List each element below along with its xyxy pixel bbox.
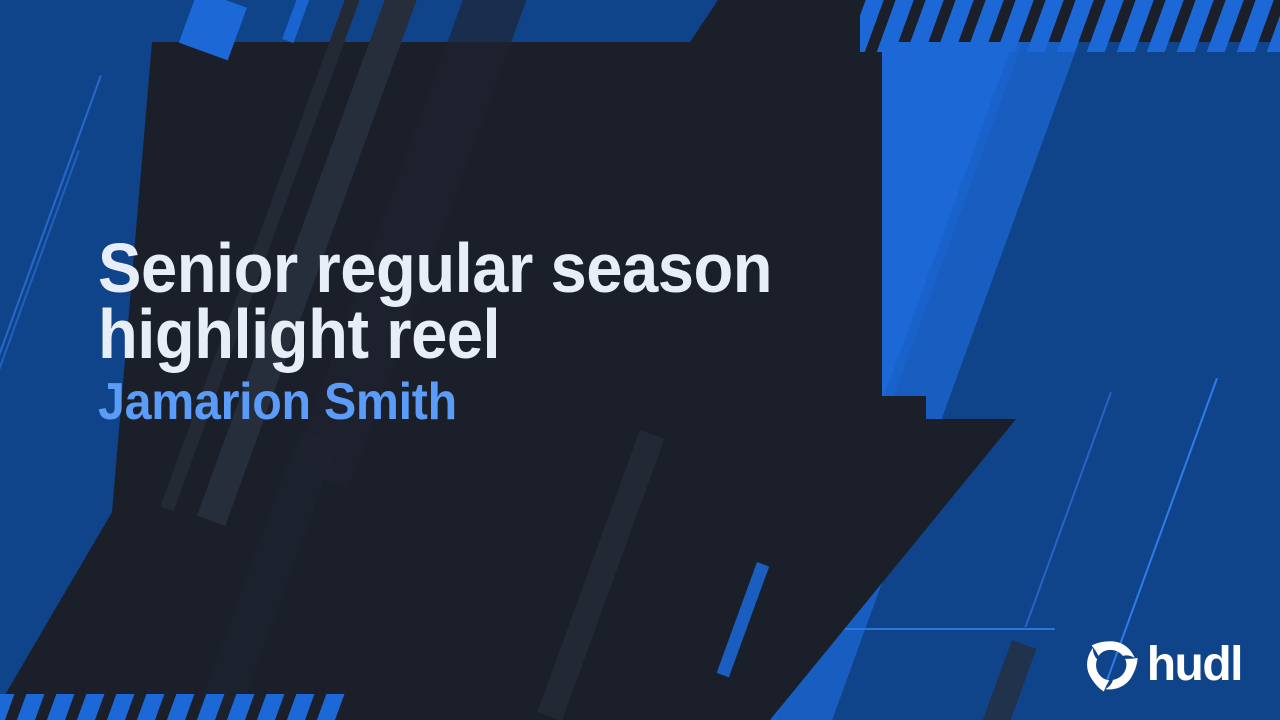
hudl-logo: hudl [1084, 638, 1242, 692]
title-block: Senior regular season highlight reel Jam… [98, 236, 898, 428]
athlete-name: Jamarion Smith [98, 376, 842, 428]
hudl-swirl-icon [1084, 638, 1138, 692]
title-line-2: highlight reel [98, 302, 842, 368]
highlight-title-card: Senior regular season highlight reel Jam… [0, 0, 1280, 720]
hatch-stripes-top-right [860, 0, 1280, 52]
title-line-1: Senior regular season [98, 236, 842, 302]
hatch-stripes-bottom-left [0, 694, 350, 720]
hudl-wordmark: hudl [1147, 641, 1242, 689]
hairline-horizontal-right [835, 628, 1055, 630]
